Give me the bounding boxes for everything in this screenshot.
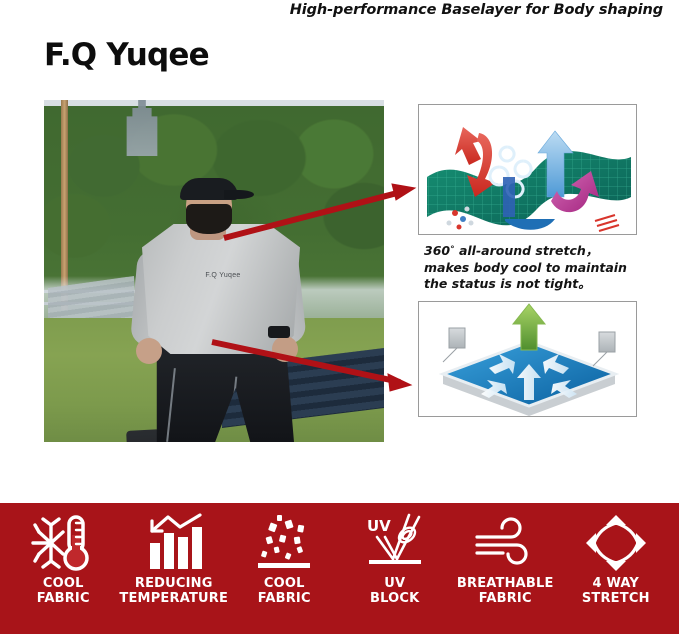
product-photo: F.Q Yuqee (44, 100, 384, 442)
moisture-particles-icon (252, 511, 316, 575)
model-right-hand (272, 336, 298, 362)
breathability-diagram-panel (418, 301, 637, 417)
airflow-wind-icon (473, 511, 537, 575)
header-tagline: High-performance Baselayer for Body shap… (290, 2, 663, 18)
wind-lines (477, 519, 526, 563)
feature-cool-fabric-2: COOL FABRIC (229, 511, 340, 606)
lower-callout-head (388, 374, 411, 391)
snowflake-thermometer-icon (31, 511, 95, 575)
feature-label: REDUCING TEMPERATURE (119, 577, 228, 606)
feature-label: 4 WAY STRETCH (582, 577, 650, 606)
thermometer (65, 517, 87, 569)
uv-text: UV (367, 517, 391, 535)
blue-down-arrow (503, 177, 515, 217)
feature-label: COOL FABRIC (37, 577, 90, 606)
brand-title: F.Q Yuqee (44, 37, 209, 73)
stretch-diamond (594, 523, 638, 563)
stretch-diagram-svg (419, 105, 637, 235)
particles (261, 515, 304, 560)
photo-model: F.Q Yuqee (128, 180, 308, 442)
upper-callout-head (392, 184, 415, 200)
feature-cool-fabric-1: COOL FABRIC (8, 511, 119, 606)
model-cap (180, 178, 238, 200)
feature-breathable-fabric: BREATHABLE FABRIC (450, 511, 561, 606)
model-left-hand (136, 338, 162, 364)
feature-label: COOL FABRIC (258, 577, 311, 606)
stretch-caption: 360° all-around stretch， makes body cool… (424, 243, 660, 293)
feature-reducing-temperature: REDUCING TEMPERATURE (119, 511, 230, 606)
fabric-surface-line (258, 563, 310, 568)
feature-4-way-stretch: 4 WAY STRETCH (561, 511, 672, 606)
chest-print-logo: F.Q Yuqee (178, 272, 268, 279)
breathability-diagram-svg (419, 302, 637, 417)
feature-list: COOL FABRIC (0, 503, 679, 634)
feature-label: UV BLOCK (370, 577, 419, 606)
stretch-diagram-panel (418, 104, 637, 235)
four-way-stretch-icon (584, 511, 648, 575)
bar-chart-down-arrow-icon (142, 511, 206, 575)
model-watch (268, 326, 290, 338)
feature-bar: COOL FABRIC (0, 503, 679, 634)
caption-line3: the status is not tight。 (424, 276, 591, 291)
caption-line2: makes body cool to maintain (424, 260, 627, 275)
product-infographic-page: High-performance Baselayer for Body shap… (0, 0, 679, 634)
caption-line1: 360° all-around stretch， (424, 243, 598, 258)
fabric-surface-line (369, 560, 421, 564)
feature-label: BREATHABLE FABRIC (457, 577, 554, 606)
feature-uv-block: UV UV BLOCK (340, 511, 451, 606)
snowflake (33, 519, 63, 567)
bars (150, 527, 202, 569)
stretch-corner-arrows (586, 515, 646, 571)
uv-block-icon: UV (363, 511, 427, 575)
model-beard (186, 204, 232, 234)
